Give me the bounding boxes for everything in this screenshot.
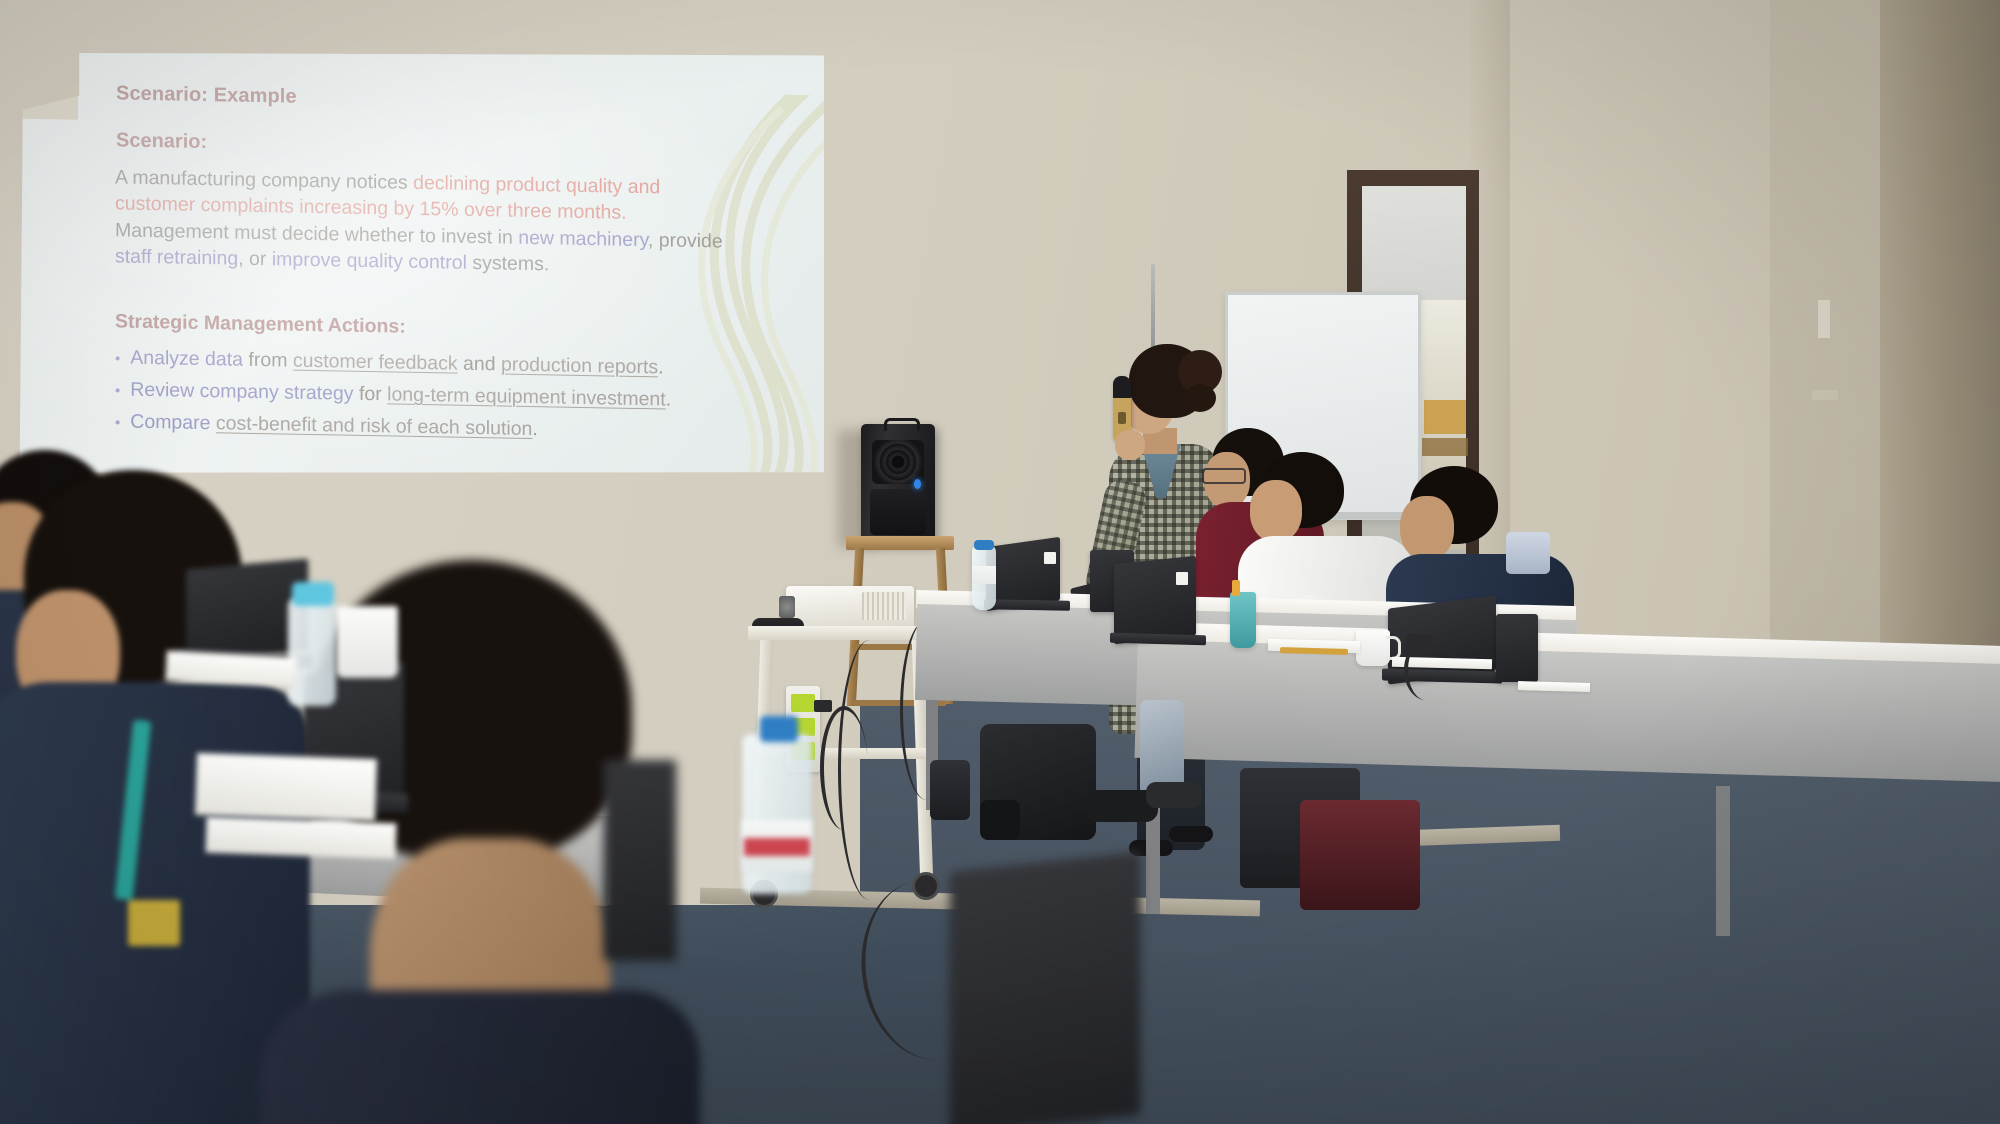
- body-line4-violet: staff retraining: [115, 246, 238, 270]
- table-leg: [1716, 786, 1730, 936]
- body-line2-red: customer complaints increasing by 15% ov…: [115, 193, 627, 224]
- wall-switch[interactable]: [1818, 300, 1830, 338]
- bullet-2-underline-1: long-term equipment investment: [387, 383, 666, 410]
- glasses-icon: [1202, 468, 1246, 484]
- microphone-button-icon[interactable]: [1118, 412, 1126, 424]
- mug[interactable]: [336, 606, 398, 678]
- classroom-photo: Scenario: Example Scenario: A manufactur…: [0, 0, 2000, 1124]
- bullet-2-tail: .: [666, 388, 671, 410]
- laptop-sticker: [1044, 552, 1056, 564]
- slide-title: Scenario: Example: [116, 82, 297, 108]
- participant-face: [1400, 496, 1454, 560]
- bullet-3-tail: .: [532, 418, 537, 440]
- bullet-1-underline-1: customer feedback: [293, 350, 458, 375]
- office-chair[interactable]: [1300, 800, 1420, 910]
- bullet-1-tail: .: [658, 356, 663, 378]
- speaker-grille-icon: [872, 440, 924, 484]
- participant-face: [1250, 480, 1302, 542]
- laptop[interactable]: [950, 852, 1140, 1124]
- bottle-label: [972, 566, 996, 584]
- water-bottle[interactable]: [288, 598, 336, 706]
- office-chair[interactable]: [930, 760, 970, 820]
- slide-bullet-list: • Analyze data from customer feedback an…: [115, 342, 795, 450]
- power-plug: [814, 700, 832, 712]
- laptop-base[interactable]: [984, 599, 1070, 611]
- handout-papers: [1518, 681, 1590, 692]
- corridor-light-reflection: [1422, 438, 1468, 456]
- laptop-sticker: [1176, 572, 1188, 585]
- speaker-power-led-icon: [914, 479, 921, 489]
- tumbler-straw: [1232, 580, 1240, 596]
- bullet-2-lead: Review company strategy: [130, 379, 353, 405]
- laptop[interactable]: [1114, 556, 1196, 645]
- speaker-lower-panel: [870, 489, 926, 535]
- bullet-1-mid: from: [243, 349, 293, 372]
- body-line3-gray: Management must decide whether to invest…: [115, 219, 518, 248]
- presenter-shoe: [1169, 826, 1213, 842]
- projector-cart-top: [748, 626, 936, 640]
- slide-actions-heading: Strategic Management Actions:: [115, 310, 406, 338]
- insulated-tumbler[interactable]: [1230, 592, 1256, 648]
- participant-collar: [1506, 532, 1550, 574]
- presenter-hair-bun-lower: [1184, 384, 1216, 412]
- handout-papers: [195, 753, 377, 821]
- notebook: [205, 817, 396, 860]
- bullet-marker-icon: •: [115, 376, 120, 406]
- corridor-light: [1424, 400, 1466, 434]
- body-line3-violet: new machinery: [518, 227, 648, 251]
- table-front-panel: [1135, 640, 2000, 783]
- projector-lens-icon: [779, 596, 795, 618]
- presenter-hand-holding-mic: [1115, 430, 1145, 460]
- charger-brick: [1406, 634, 1432, 654]
- laptop[interactable]: [1496, 614, 1538, 682]
- bullet-3-underline-1: cost-benefit and risk of each solution: [216, 412, 533, 440]
- body-line1-gray: A manufacturing company notices: [115, 166, 413, 193]
- body-line4-gray: , or: [238, 248, 272, 271]
- bullet-1-underline-2: production reports: [501, 353, 658, 378]
- slide-body: A manufacturing company notices declinin…: [115, 164, 787, 282]
- presenter-shoe: [1146, 782, 1202, 808]
- speaker-handle: [884, 418, 920, 431]
- bottle-cap: [292, 582, 334, 606]
- projected-slide: Scenario: Example Scenario: A manufactur…: [18, 41, 824, 488]
- body-line1-red: declining product quality and: [413, 172, 660, 199]
- participant-shirt: [260, 990, 700, 1124]
- projector-cable: [838, 640, 901, 900]
- bullet-1-mid2: and: [458, 353, 501, 376]
- lanyard-badge: [128, 900, 180, 946]
- bullet-3-lead: Compare: [130, 411, 210, 434]
- body-line4-violet2: improve quality control: [272, 248, 467, 274]
- wall-fitting: [1812, 390, 1838, 400]
- backpack-strap: [980, 800, 1020, 840]
- bullet-marker-icon: •: [115, 408, 120, 438]
- bottle-cap: [760, 716, 798, 742]
- bullet-2-mid: for: [354, 383, 388, 406]
- bullet-marker-icon: •: [115, 344, 120, 374]
- power-socket-icon: [791, 694, 815, 712]
- laptop[interactable]: [604, 760, 676, 960]
- bottle-cap: [974, 540, 994, 550]
- projector-vent-icon: [862, 592, 906, 620]
- slide-subtitle: Scenario:: [116, 129, 207, 154]
- body-line3-gray2: , provide: [648, 229, 723, 252]
- bottle-brand-band: [744, 838, 810, 856]
- body-line4-gray2: systems.: [467, 252, 549, 276]
- bullet-1-lead: Analyze data: [130, 347, 243, 371]
- mug[interactable]: [1356, 630, 1390, 666]
